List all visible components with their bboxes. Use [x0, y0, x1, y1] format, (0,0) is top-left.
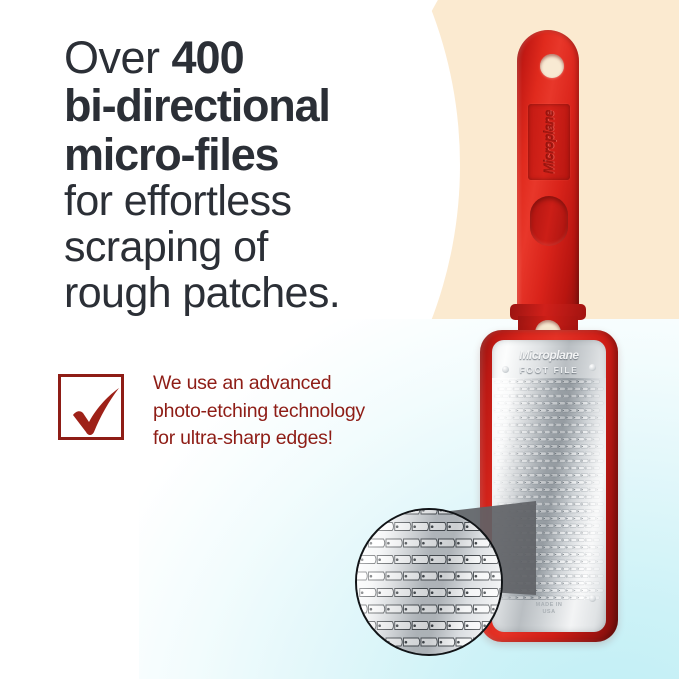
headline-line-3: micro-files — [64, 131, 464, 178]
blade-brand-text: Microplane — [492, 348, 606, 362]
feature-callout-text: We use an advanced photo-etching technol… — [153, 370, 473, 453]
handle-hang-hole — [540, 54, 564, 78]
handle-grip-dimple — [530, 196, 568, 246]
marketing-image-canvas: Over 400 bi-directional micro-files for … — [0, 0, 679, 679]
headline-line-2: bi-directional — [64, 82, 464, 129]
magnified-teeth-pattern — [357, 510, 503, 656]
callout-line-1: We use an advanced — [153, 370, 473, 398]
headline-line-6: rough patches. — [64, 271, 464, 316]
handle-brand-logo: Microplane — [542, 110, 557, 174]
magnified-detail-inset — [355, 508, 503, 656]
headline-block: Over 400 bi-directional micro-files for … — [64, 34, 464, 316]
blade-rivet — [589, 364, 596, 371]
blade-rivet — [502, 366, 509, 373]
headline-line-1-prefix: Over — [64, 32, 172, 83]
handle-embossed-logo-plate: Microplane — [528, 104, 570, 180]
checkmark-icon — [59, 375, 129, 445]
callout-line-3: for ultra-sharp edges! — [153, 425, 473, 453]
callout-line-2: photo-etching technology — [153, 398, 473, 426]
headline-line-5: scraping of — [64, 225, 464, 270]
headline-line-1: Over 400 — [64, 34, 464, 81]
headline-line-4: for effortless — [64, 179, 464, 224]
checkmark-box — [58, 374, 124, 440]
headline-count-number: 400 — [172, 32, 244, 83]
blade-rivet — [589, 595, 596, 602]
